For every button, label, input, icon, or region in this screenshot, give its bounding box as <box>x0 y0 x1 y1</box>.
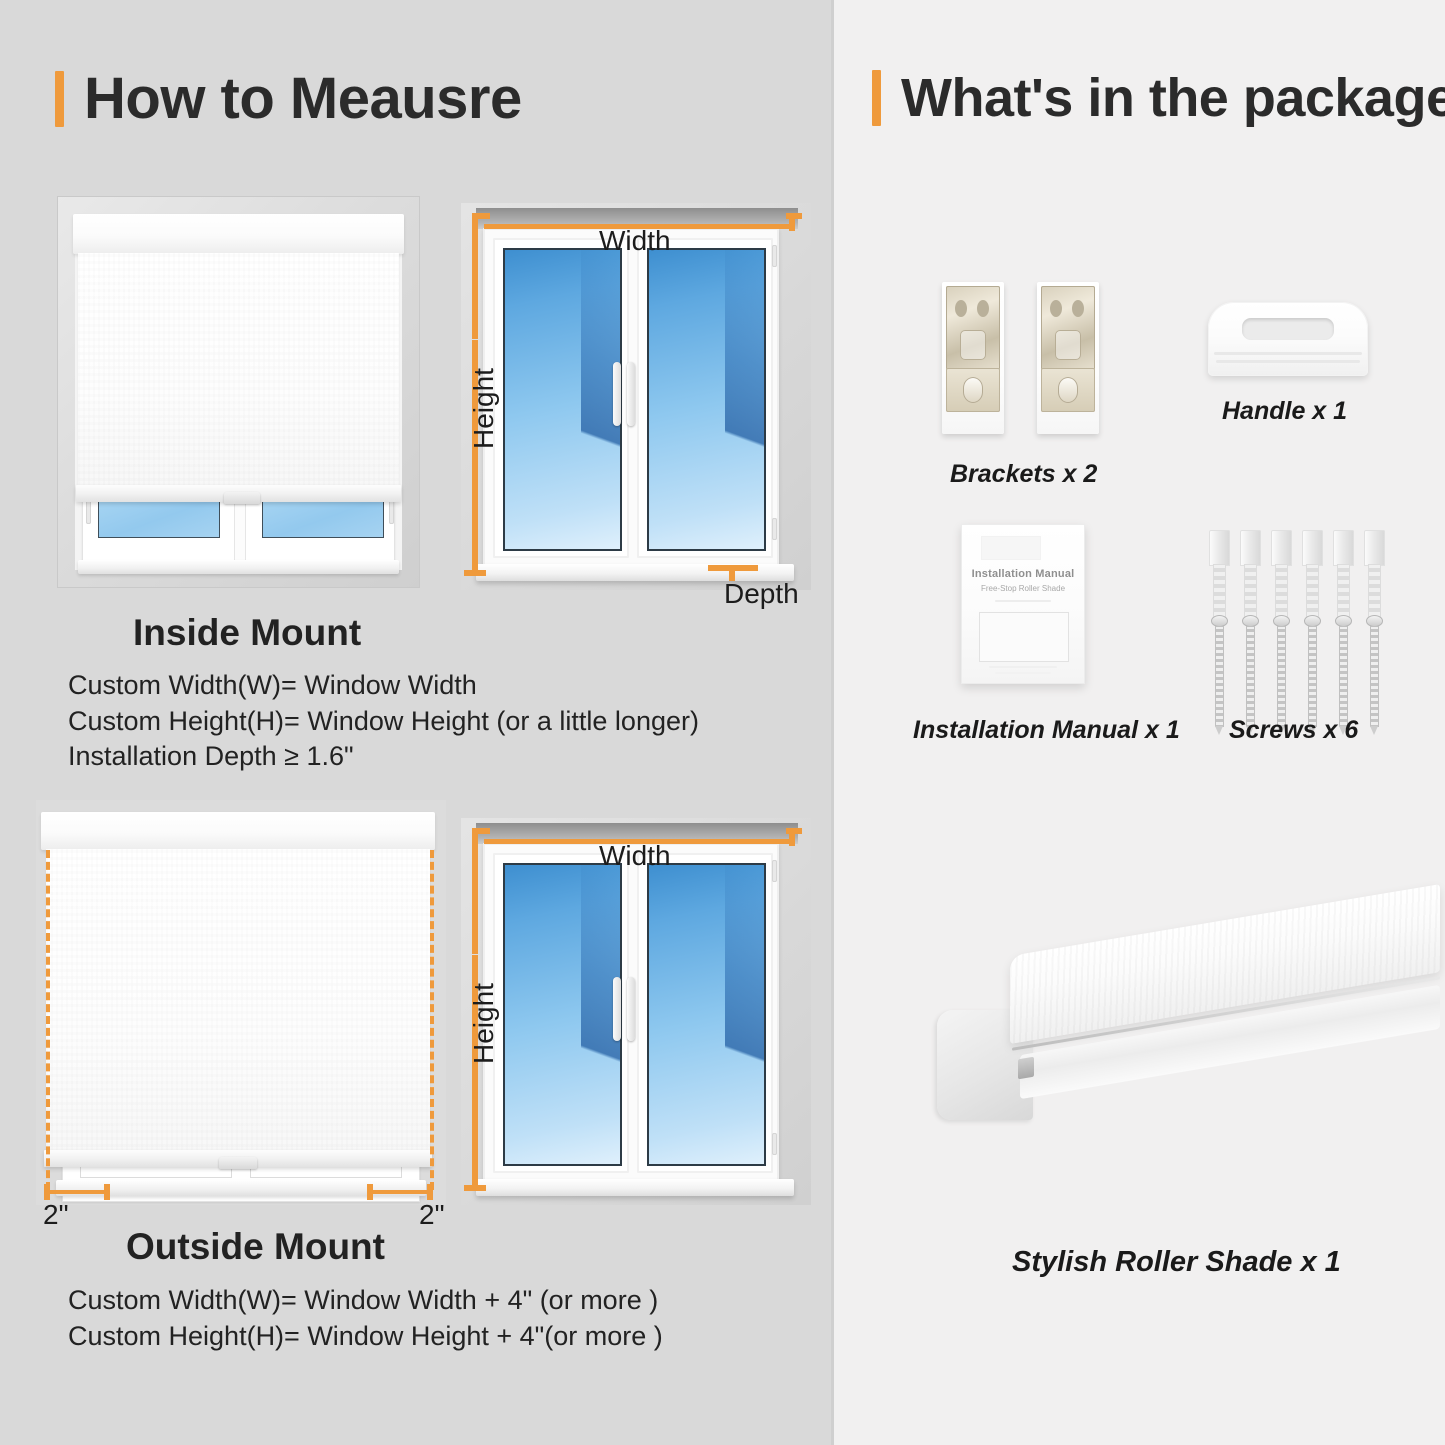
overhang-guide-right <box>430 850 434 1190</box>
caption-handle: Handle x 1 <box>1222 397 1347 426</box>
heading-how-to-measure: How to Meausre <box>55 70 522 128</box>
screw-icon-6 <box>1366 615 1383 727</box>
window-handles-2 <box>613 977 635 1041</box>
screw-icon-4 <box>1304 615 1321 727</box>
outside-mount-line-2: Custom Height(H)= Window Height + 4"(or … <box>68 1319 663 1355</box>
manual-icon: Installation Manual Free-Stop Roller Sha… <box>961 524 1085 684</box>
label-height-left-2: Height <box>468 983 500 1064</box>
heading-right-text: What's in the package <box>901 71 1445 125</box>
caption-brackets: Brackets x 2 <box>950 460 1097 489</box>
inside-mount-text: Custom Width(W)= Window Width Custom Hei… <box>68 668 699 775</box>
wall-anchor-icon-1 <box>1209 530 1230 622</box>
window-handles <box>613 362 635 426</box>
outside-mount-text: Custom Width(W)= Window Width + 4" (or m… <box>68 1283 663 1354</box>
caption-manual: Installation Manual x 1 <box>913 716 1180 745</box>
label-depth: Depth <box>724 578 799 610</box>
bracket-icon-1 <box>942 282 1004 434</box>
inside-mount-line-3: Installation Depth ≥ 1.6" <box>68 739 699 775</box>
screw-icon-5 <box>1335 615 1352 727</box>
inside-mount-title: Inside Mount <box>133 612 361 654</box>
label-height-left: Height <box>468 368 500 449</box>
manual-cover-subtitle: Free-Stop Roller Shade <box>961 584 1085 593</box>
screw-icon-2 <box>1242 615 1259 727</box>
heading-whats-in-package: What's in the package <box>872 70 1445 126</box>
bracket-icon-2 <box>1037 282 1099 434</box>
infographic-page: How to Meausre What's in the package <box>0 0 1445 1445</box>
accent-bar-left <box>55 71 64 127</box>
handle-icon <box>1208 302 1368 376</box>
wall-anchor-icon-2 <box>1240 530 1261 622</box>
wall-anchor-icon-3 <box>1271 530 1292 622</box>
screw-icon-3 <box>1273 615 1290 727</box>
caption-roller-shade: Stylish Roller Shade x 1 <box>1012 1246 1341 1279</box>
screw-icon-1 <box>1211 615 1228 727</box>
inside-mount-line-2: Custom Height(H)= Window Height (or a li… <box>68 704 699 740</box>
manual-cover-title: Installation Manual <box>961 568 1085 580</box>
wall-anchor-icon-5 <box>1333 530 1354 622</box>
inside-mount-line-1: Custom Width(W)= Window Width <box>68 668 699 704</box>
wall-anchor-icon-4 <box>1302 530 1323 622</box>
wall-anchor-icon-6 <box>1364 530 1385 622</box>
outside-mount-title: Outside Mount <box>126 1226 385 1268</box>
overhang-label-left: 2" <box>43 1199 69 1231</box>
overhang-label-right: 2" <box>419 1199 445 1231</box>
label-width-top: Width <box>599 225 671 257</box>
label-width-top-2: Width <box>599 840 671 872</box>
heading-left-text: How to Meausre <box>84 70 522 128</box>
caption-screws: Screws x 6 <box>1229 716 1358 745</box>
accent-bar-right <box>872 70 881 126</box>
panel-divider <box>831 0 834 1445</box>
roller-shade-icon <box>900 880 1430 1210</box>
overhang-guide-left <box>46 850 50 1190</box>
outside-mount-line-1: Custom Width(W)= Window Width + 4" (or m… <box>68 1283 663 1319</box>
